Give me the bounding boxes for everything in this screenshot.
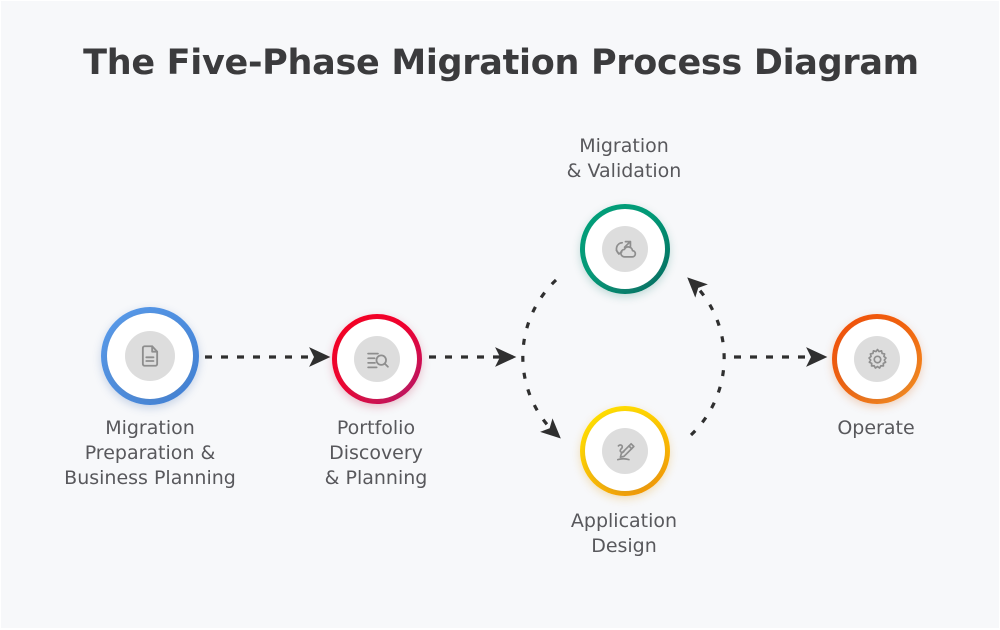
node-phase-2[interactable]	[332, 314, 422, 404]
node-phase-5-label: Operate	[776, 416, 976, 441]
node-phase-4-label: Application Design	[504, 509, 744, 559]
node-phase-4[interactable]	[580, 406, 670, 496]
connector-cycle-left-arc	[523, 280, 557, 435]
gear-icon	[854, 336, 900, 382]
document-icon	[125, 331, 175, 381]
node-phase-1[interactable]	[101, 307, 199, 405]
cloud-migration-icon	[602, 226, 648, 272]
connector-cycle-right-arc	[691, 281, 724, 435]
node-phase-3[interactable]	[580, 204, 670, 294]
design-pencil-icon	[602, 428, 648, 474]
node-phase-3-label: Migration & Validation	[504, 134, 744, 184]
diagram-canvas: The Five-Phase Migration Process Diagram	[0, 0, 1000, 629]
node-phase-5[interactable]	[832, 314, 922, 404]
node-phase-1-label: Migration Preparation & Business Plannin…	[20, 416, 280, 491]
node-phase-2-label: Portfolio Discovery & Planning	[256, 416, 496, 491]
discovery-search-icon	[354, 336, 400, 382]
